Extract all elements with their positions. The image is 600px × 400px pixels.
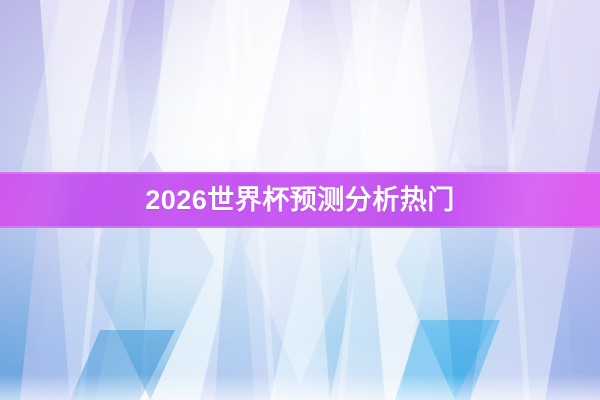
banner-title: 2026世界杯预测分析热门: [145, 187, 455, 214]
title-band: 2026世界杯预测分析热门: [0, 172, 600, 228]
band-bottom-edge: [0, 226, 600, 228]
promo-banner: 2026世界杯预测分析热门: [0, 0, 600, 400]
band-top-edge: [0, 172, 600, 174]
